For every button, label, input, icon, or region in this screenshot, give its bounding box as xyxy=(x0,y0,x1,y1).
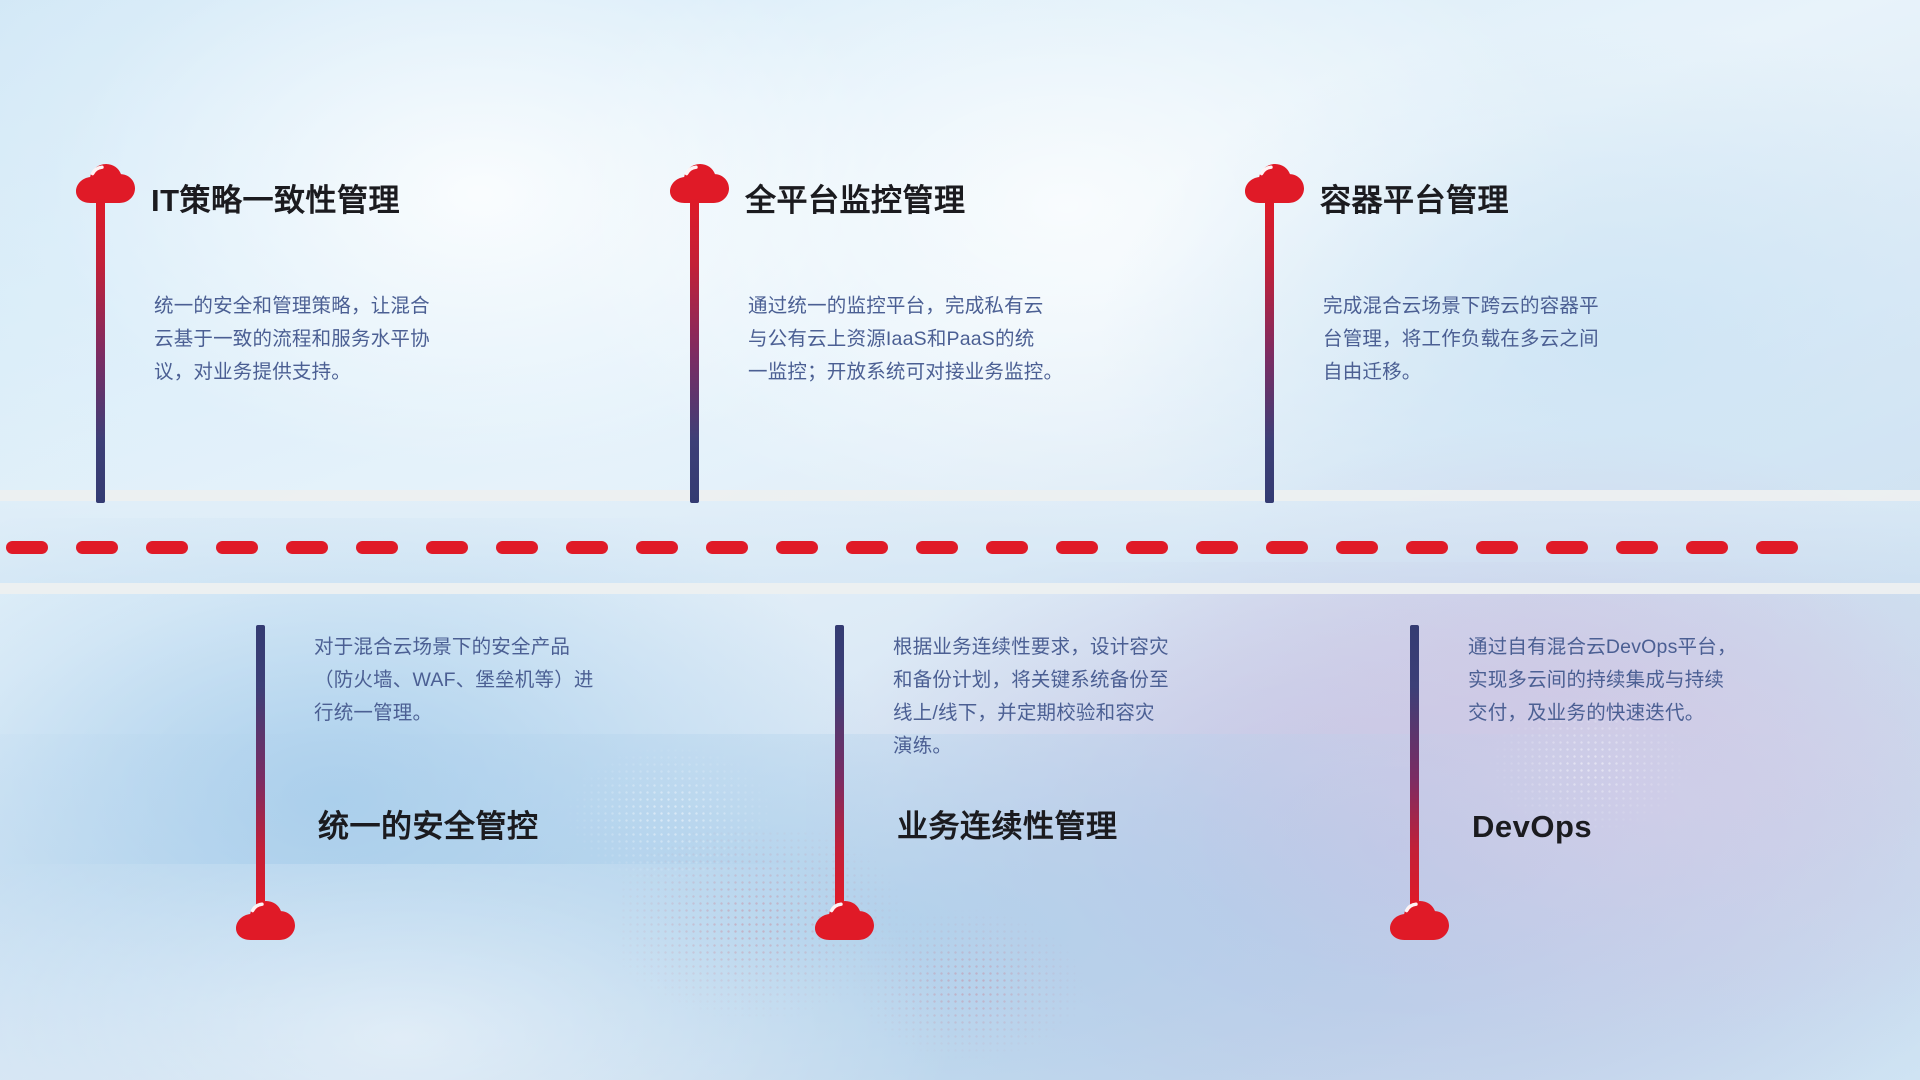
road-line-bottom xyxy=(0,583,1920,594)
cloud-icon xyxy=(234,897,296,941)
card-bar xyxy=(690,198,699,503)
card-container-platform[interactable]: 容器平台管理 完成混合云场景下跨云的容器平 台管理，将工作负载在多云之间 自由迁… xyxy=(1265,160,1695,480)
road-dash xyxy=(776,541,818,554)
card-it-policy-consistency[interactable]: IT策略一致性管理 统一的安全和管理策略，让混合 云基于一致的流程和服务水平协 … xyxy=(96,160,526,480)
road-dash xyxy=(1336,541,1378,554)
road-dashes xyxy=(0,541,1920,554)
road-line-top xyxy=(0,490,1920,501)
road-dash xyxy=(1196,541,1238,554)
card-body: 通过自有混合云DevOps平台， 实现多云间的持续集成与持续 交付，及业务的快速… xyxy=(1468,631,1888,730)
card-devops[interactable]: 通过自有混合云DevOps平台， 实现多云间的持续集成与持续 交付，及业务的快速… xyxy=(1410,625,1840,945)
card-heading: 业务连续性管理 xyxy=(897,810,1118,844)
road-dash xyxy=(916,541,958,554)
road-dash xyxy=(1686,541,1728,554)
card-heading: IT策略一致性管理 xyxy=(151,184,400,218)
card-body: 根据业务连续性要求，设计容灾 和备份计划，将关键系统备份至 线上/线下，并定期校… xyxy=(893,631,1313,763)
cloud-icon xyxy=(1388,897,1450,941)
card-body: 对于混合云场景下的安全产品 （防火墙、WAF、堡垒机等）进 行统一管理。 xyxy=(314,631,734,730)
road-dash xyxy=(1546,541,1588,554)
cloud-icon xyxy=(1243,160,1305,204)
road-dash xyxy=(566,541,608,554)
card-business-continuity[interactable]: 根据业务连续性要求，设计容灾 和备份计划，将关键系统备份至 线上/线下，并定期校… xyxy=(835,625,1265,945)
card-unified-security[interactable]: 对于混合云场景下的安全产品 （防火墙、WAF、堡垒机等）进 行统一管理。 统一的… xyxy=(256,625,686,945)
infographic-stage: IT策略一致性管理 统一的安全和管理策略，让混合 云基于一致的流程和服务水平协 … xyxy=(0,0,1920,1080)
cloud-icon xyxy=(668,160,730,204)
road-dash xyxy=(636,541,678,554)
cloud-icon xyxy=(813,897,875,941)
road-dash xyxy=(1616,541,1658,554)
card-bar xyxy=(1410,625,1419,905)
road-dash xyxy=(846,541,888,554)
road-dash xyxy=(1126,541,1168,554)
road-dash xyxy=(146,541,188,554)
card-heading: DevOps xyxy=(1472,810,1592,844)
card-heading: 全平台监控管理 xyxy=(745,184,966,218)
card-body: 统一的安全和管理策略，让混合 云基于一致的流程和服务水平协 议，对业务提供支持。 xyxy=(154,290,554,389)
road-dash xyxy=(706,541,748,554)
road-dash xyxy=(426,541,468,554)
road-dash xyxy=(1266,541,1308,554)
road-dash xyxy=(1056,541,1098,554)
card-bar xyxy=(835,625,844,905)
card-heading: 统一的安全管控 xyxy=(318,810,539,844)
cloud-icon xyxy=(74,160,136,204)
road-dash xyxy=(496,541,538,554)
road-dash xyxy=(356,541,398,554)
card-heading: 容器平台管理 xyxy=(1320,184,1509,218)
road-dash xyxy=(76,541,118,554)
card-bar xyxy=(1265,198,1274,503)
road-dash xyxy=(216,541,258,554)
card-body: 完成混合云场景下跨云的容器平 台管理，将工作负载在多云之间 自由迁移。 xyxy=(1323,290,1743,389)
card-bar xyxy=(256,625,265,905)
road-dash xyxy=(1756,541,1798,554)
road-dash xyxy=(986,541,1028,554)
road-dash xyxy=(1406,541,1448,554)
road-dash xyxy=(1476,541,1518,554)
road-dash xyxy=(6,541,48,554)
card-body: 通过统一的监控平台，完成私有云 与公有云上资源IaaS和PaaS的统 一监控；开… xyxy=(748,290,1198,389)
card-full-platform-monitoring[interactable]: 全平台监控管理 通过统一的监控平台，完成私有云 与公有云上资源IaaS和PaaS… xyxy=(690,160,1160,480)
road-dash xyxy=(286,541,328,554)
card-bar xyxy=(96,198,105,503)
